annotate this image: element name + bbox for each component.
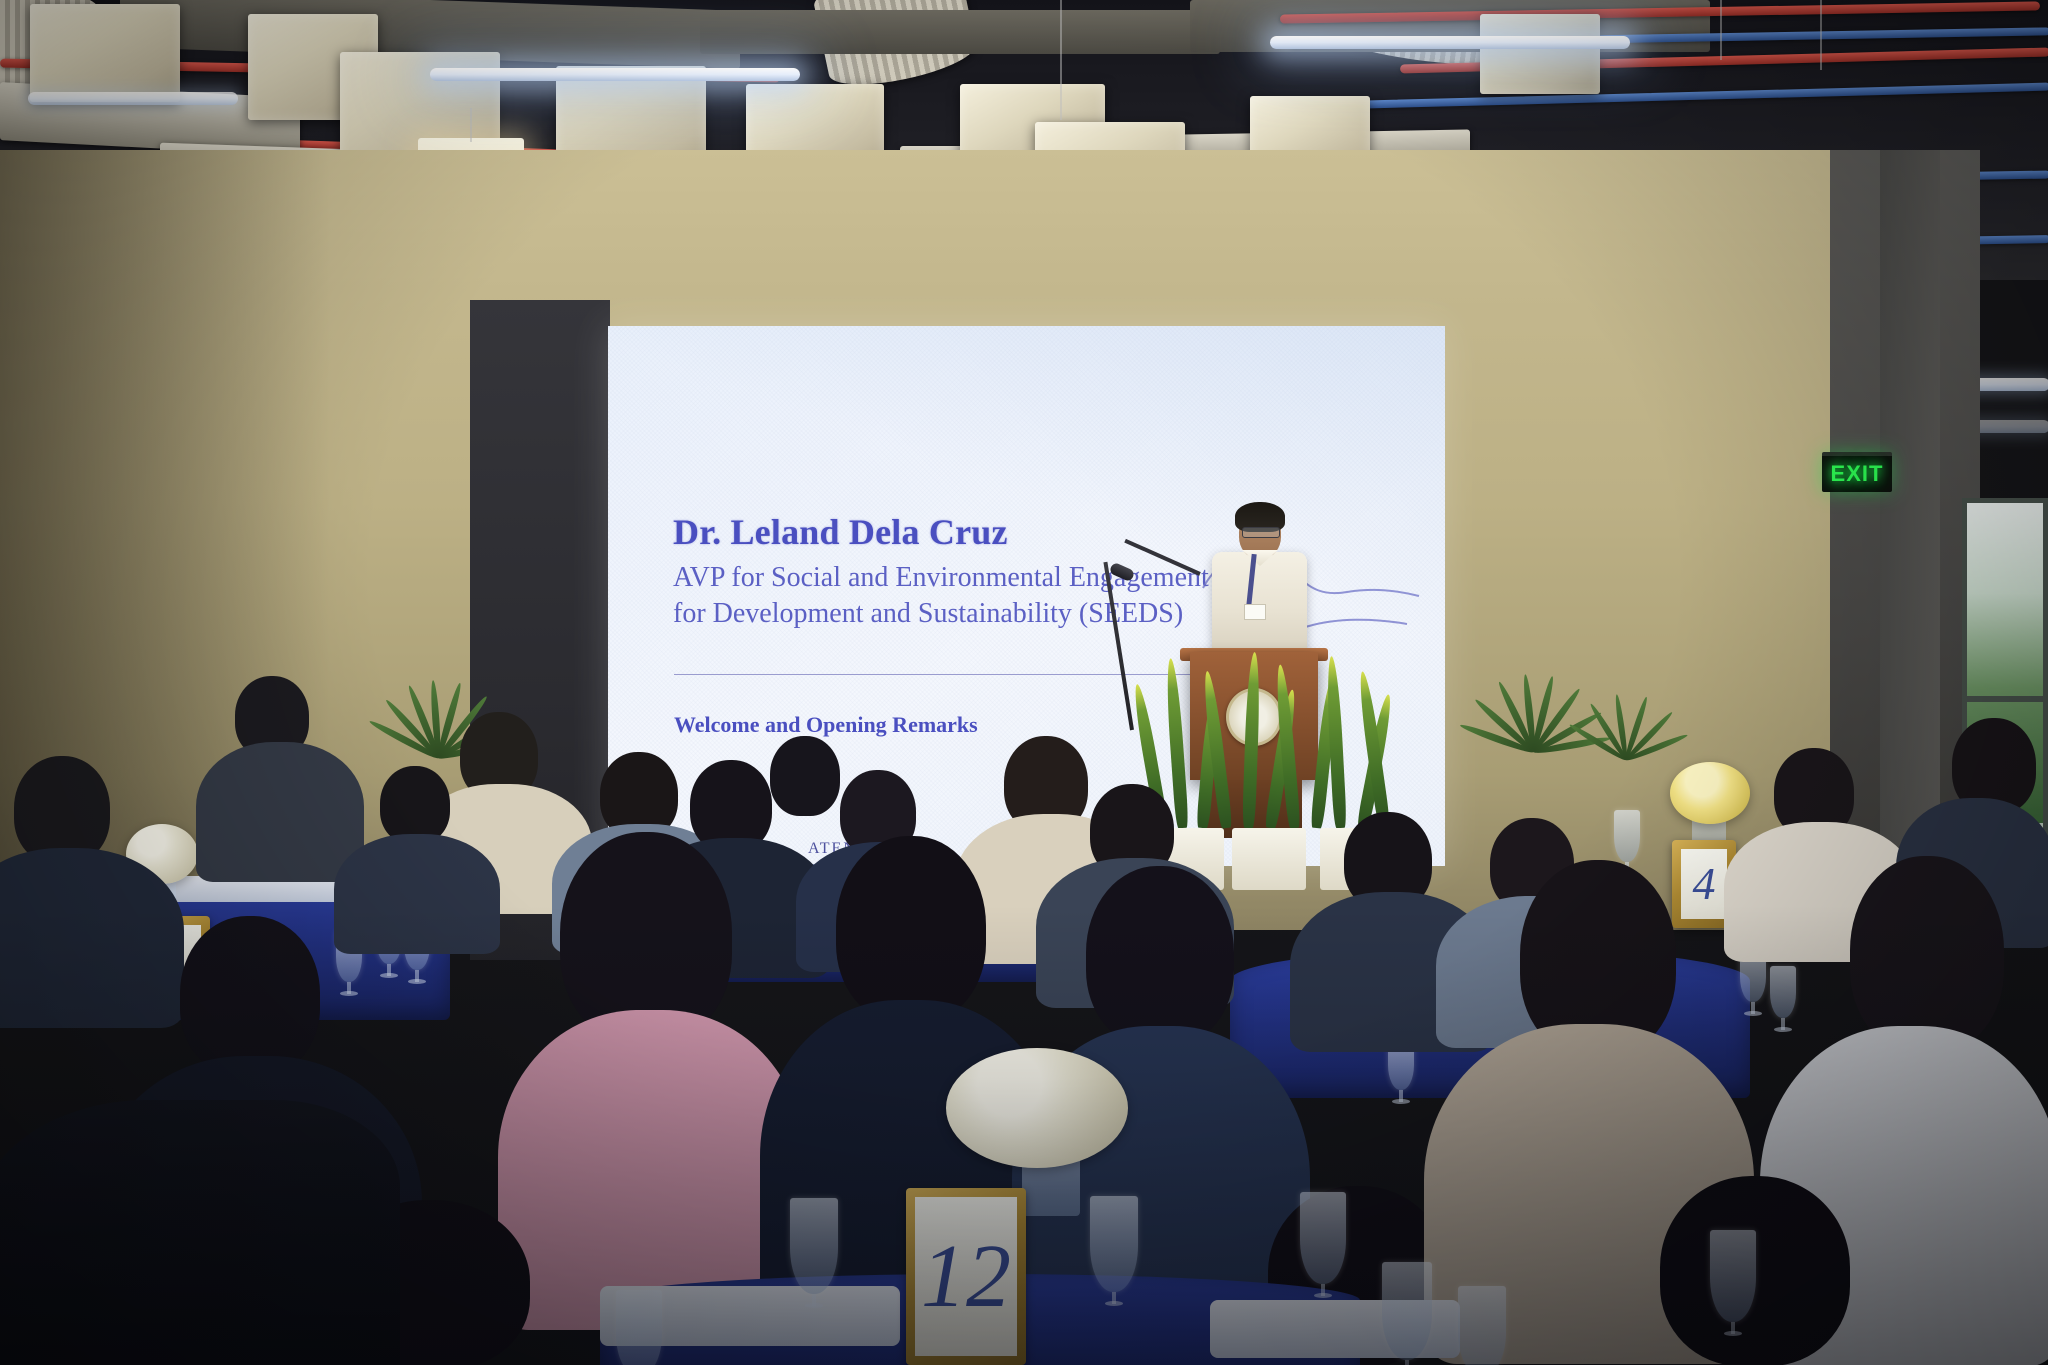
hanger-rod [1820,0,1822,70]
pipe-blue [1330,83,2048,110]
audience-head [380,766,450,844]
audience-head [1086,866,1234,1046]
insulated-panel [1480,14,1600,94]
wine-glass [1710,1230,1756,1322]
fluorescent-tube [28,92,238,105]
slide-divider [674,674,1234,675]
table-number-value: 4 [1693,861,1716,907]
wine-glass [1770,966,1796,1018]
table-number-frame: 12 [906,1188,1026,1365]
plant-pot [1232,828,1306,890]
duct [700,10,1220,54]
fluorescent-tube [430,68,800,81]
table-number-value: 12 [921,1232,1011,1322]
audience-shoulders [0,848,184,1028]
slide-title-line-2: for Development and Sustainability (SEED… [673,598,1183,630]
foreground-silhouette [0,1100,400,1365]
photo-scene: EXIT Dr. Leland Dela Cruz AVP for Social… [0,0,2048,1365]
slide-agenda-item: Welcome and Opening Remarks [674,712,978,738]
hanger-rod [470,108,472,142]
audience-head [770,736,840,816]
hanger-rod [1060,0,1062,120]
insulated-panel [30,4,180,102]
wine-glass [1382,1262,1432,1360]
audience-shoulders [196,742,364,882]
exit-sign-label: EXIT [1831,461,1884,487]
flower-centerpiece [1670,762,1750,824]
wine-glass [1458,1286,1506,1365]
wine-glass [1614,810,1640,862]
wine-glass [1300,1192,1346,1284]
audience-head [1850,856,2004,1052]
audience-shoulders [334,834,500,954]
speaker-eyeglasses [1242,527,1280,538]
speaker-at-podium [1209,508,1309,658]
table-number-card: 4 [1681,849,1727,919]
wine-glass [1090,1196,1138,1292]
flower-centerpiece [946,1048,1128,1168]
palm-plant [1559,624,1687,760]
wine-glass [616,1290,662,1365]
fluorescent-tube [1270,36,1630,49]
wine-glass [790,1198,838,1294]
audience-head [836,836,986,1022]
speaker-id-badge [1244,604,1266,620]
table-number-card: 12 [915,1197,1017,1356]
exit-sign: EXIT [1822,452,1892,492]
hanger-rod [1720,0,1722,60]
slide-speaker-name: Dr. Leland Dela Cruz [673,511,1008,553]
window-mullion [1967,696,2043,702]
audience-head [180,916,320,1076]
